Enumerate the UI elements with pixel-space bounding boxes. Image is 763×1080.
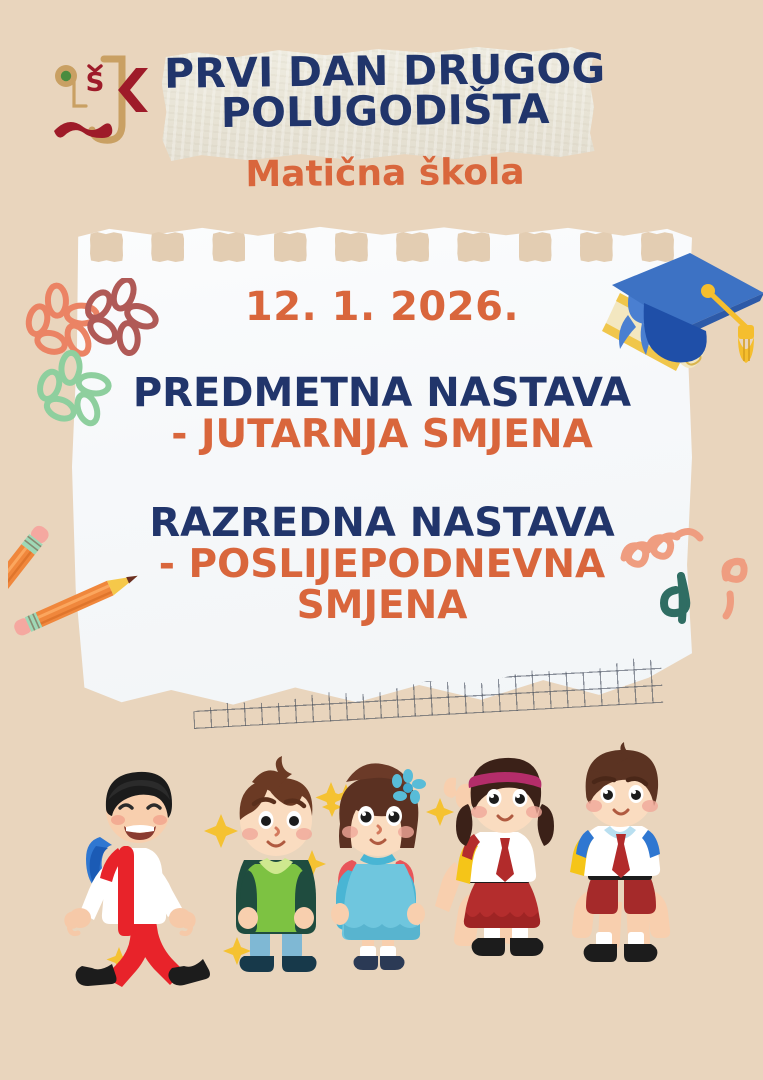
- kid-green-shirt: [236, 756, 317, 972]
- page-title: PRVI DAN DRUGOG POLUGODIŠTA: [150, 49, 621, 134]
- flower-green: [34, 349, 113, 429]
- schedule-shift: - JUTARNJA SMJENA: [72, 415, 692, 456]
- pencil-lower: [12, 568, 141, 637]
- squiggle-decorations: [618, 518, 763, 658]
- kid-red-skirt-girl: [435, 758, 554, 956]
- title-line-2: POLUGODIŠTA: [150, 89, 620, 135]
- poster-canvas: S PRVI DAN DRUGOG POLUGODIŠTA Matična šk…: [0, 0, 763, 1080]
- page-subtitle: Matična škola: [150, 154, 620, 194]
- pencil-decorations: [8, 515, 178, 675]
- students-illustration: [0, 742, 763, 992]
- svg-text:S: S: [86, 68, 105, 98]
- squiggle-teal: [664, 576, 686, 620]
- flower-decorations: [14, 278, 164, 438]
- kid-red-shorts-boy: [570, 742, 670, 962]
- kid-walking-red-pants: [67, 772, 210, 987]
- graduation-cap-icon: [598, 245, 763, 395]
- school-logo: S: [44, 46, 164, 164]
- kid-blue-dress-girl: [331, 763, 426, 970]
